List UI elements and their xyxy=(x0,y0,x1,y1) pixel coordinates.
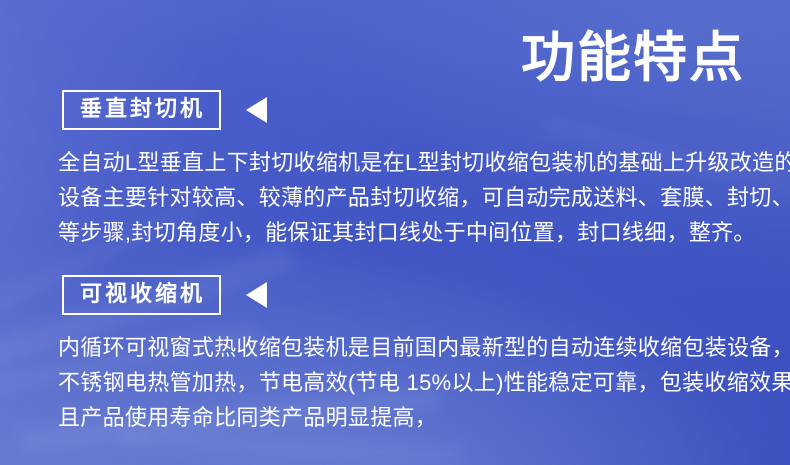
paragraph-line: 内循环可视窗式热收缩包装机是目前国内最新型的自动连续收缩包装设备，采用 xyxy=(58,330,750,365)
section-heading-row: 垂直封切机 xyxy=(0,90,790,130)
paragraph-line: 不锈钢电热管加热，节电高效(节电 15%以上)性能稳定可靠，包装收缩效果好， xyxy=(58,365,750,400)
page-title: 功能特点 xyxy=(521,30,745,87)
section-paragraph-vertical-sealer: 全自动L型垂直上下封切收缩机是在L型封切收缩包装机的基础上升级改造的一款 设备主… xyxy=(0,130,790,250)
section-heading-row: 可视收缩机 xyxy=(0,275,790,315)
section-tag-visual-shrink-machine: 可视收缩机 xyxy=(62,275,221,315)
section-tag-vertical-sealer: 垂直封切机 xyxy=(62,90,221,130)
triangle-left-icon xyxy=(246,97,267,123)
paragraph-line: 设备主要针对较高、较薄的产品封切收缩，可自动完成送料、套膜、封切、收缩 xyxy=(58,180,750,215)
paragraph-line: 且产品使用寿命比同类产品明显提高， xyxy=(58,400,750,435)
triangle-left-icon xyxy=(246,282,267,308)
paragraph-line: 等步骤,封切角度小，能保证其封口线处于中间位置，封口线细，整齐。 xyxy=(58,215,750,250)
paragraph-line: 全自动L型垂直上下封切收缩机是在L型封切收缩包装机的基础上升级改造的一款 xyxy=(58,145,750,180)
feature-section-vertical-sealer: 垂直封切机 全自动L型垂直上下封切收缩机是在L型封切收缩包装机的基础上升级改造的… xyxy=(0,90,790,250)
feature-section-visual-shrink-machine: 可视收缩机 内循环可视窗式热收缩包装机是目前国内最新型的自动连续收缩包装设备，采… xyxy=(0,275,790,435)
feature-banner: 功能特点 垂直封切机 全自动L型垂直上下封切收缩机是在L型封切收缩包装机的基础上… xyxy=(0,0,790,465)
section-paragraph-visual-shrink-machine: 内循环可视窗式热收缩包装机是目前国内最新型的自动连续收缩包装设备，采用 不锈钢电… xyxy=(0,315,790,435)
